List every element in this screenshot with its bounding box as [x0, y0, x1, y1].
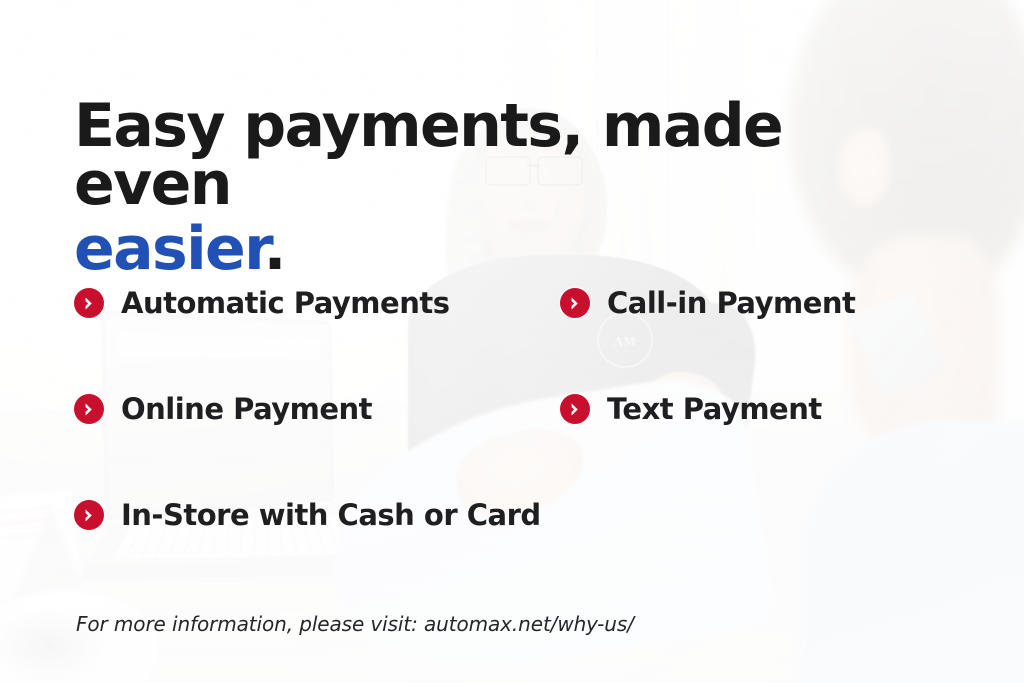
feature-item-automatic-payments: Automatic Payments: [74, 286, 449, 320]
feature-label: Online Payment: [121, 392, 372, 426]
feature-label: Call-in Payment: [607, 286, 855, 320]
footer-note: For more information, please visit: auto…: [76, 612, 634, 636]
chevron-right-circle-icon: [74, 500, 104, 530]
chevron-right-circle-icon: [74, 394, 104, 424]
chevron-right-circle-icon: [560, 288, 590, 318]
feature-label: In-Store with Cash or Card: [121, 498, 541, 532]
feature-item-in-store: In-Store with Cash or Card: [74, 498, 541, 532]
promotional-banner: AM Easy payments, made even easier.: [0, 0, 1024, 683]
feature-item-text-payment: Text Payment: [560, 392, 822, 426]
page-title: Easy payments, made even easier.: [74, 98, 954, 279]
feature-item-call-in-payment: Call-in Payment: [560, 286, 855, 320]
headline-line-1: Easy payments, made even: [74, 98, 954, 213]
feature-item-online-payment: Online Payment: [74, 392, 372, 426]
feature-row: Automatic Payments Call-in Payment: [74, 286, 954, 392]
headline-accent-word: easier: [74, 214, 264, 284]
feature-row: In-Store with Cash or Card: [74, 498, 954, 604]
chevron-right-circle-icon: [560, 394, 590, 424]
feature-row: Online Payment Text Payment: [74, 392, 954, 498]
headline-period: .: [264, 214, 285, 284]
headline-line-2: easier.: [74, 221, 954, 279]
feature-list: Automatic Payments Call-in Payment: [74, 286, 954, 604]
feature-label: Text Payment: [607, 392, 822, 426]
banner-content: Easy payments, made even easier. Automat…: [0, 0, 1024, 683]
chevron-right-circle-icon: [74, 288, 104, 318]
feature-label: Automatic Payments: [121, 286, 449, 320]
